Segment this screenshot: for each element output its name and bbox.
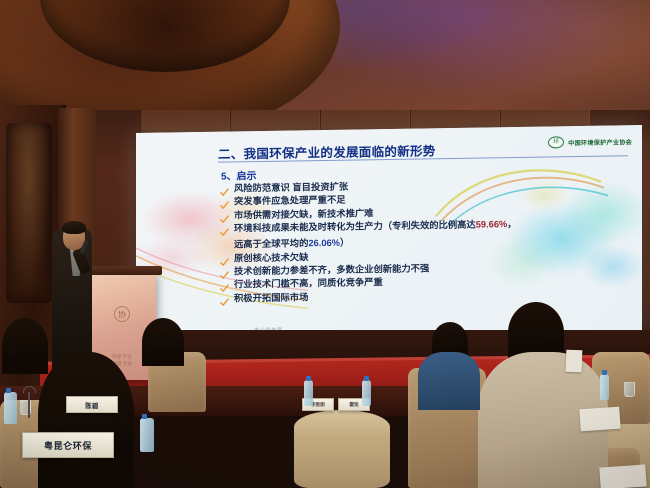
badge-glyph: 环 [553, 139, 559, 145]
water-bottle-3 [600, 374, 609, 400]
slide-bullet-text: 原创核心技术欠缺 [234, 252, 308, 264]
checkmark-icon [220, 198, 229, 208]
slide-bullet-text: 行业技术门槛不高，同质化竞争严重 [234, 277, 383, 290]
microphone-head-icon [23, 386, 36, 393]
water-bottle-4 [140, 418, 154, 452]
checkmark-icon [220, 211, 229, 221]
association-badge-icon: 环 [548, 136, 564, 148]
checkmark-icon [220, 268, 229, 278]
water-bottle-2 [362, 380, 371, 406]
checkmark-icon [220, 281, 229, 291]
association-logo-text: 中国环境保护产业协会 [568, 137, 632, 147]
checkmark-icon [220, 294, 229, 304]
projection-screen: 二、我国环保产业的发展面临的新形势 环 中国环境保护产业协会 5、启示 风险防范… [136, 125, 642, 342]
name-card-text: 陈碧 [85, 400, 98, 410]
slide-bullet-text: 积极开拓国际市场 [234, 292, 308, 304]
podium-caption-line1: 环保 产业 [112, 354, 132, 361]
slide-section-number: 5、启示 [221, 167, 257, 183]
audience-body-2 [38, 352, 134, 488]
slide-bullet-text: 风险防范意识 盲目投资扩张 [234, 182, 348, 194]
audience-body-3 [418, 352, 480, 410]
podium-emblem-icon: 协 [114, 306, 130, 322]
association-logo: 环 中国环境保护产业协会 [548, 135, 632, 148]
checkmark-icon [220, 254, 229, 264]
water-bottle-1 [304, 380, 313, 406]
slide-bullet-text: 市场供需对接欠缺，新技术推广难 [234, 208, 373, 221]
microphone-stand [28, 392, 30, 418]
slide-bullet-list: 风险防范意识 盲目投资扩张突发事件应急处理严重不足市场供需对接欠缺，新技术推广难… [220, 177, 636, 306]
water-bottle-5 [4, 392, 17, 424]
door-carving [6, 123, 52, 303]
audience-head-2 [2, 318, 48, 374]
slide-bullet-text: 突发事件应急处理严重不足 [234, 195, 346, 207]
name-card-front-left: 粤昆仑环保 [22, 432, 114, 458]
paper-document-3 [566, 350, 583, 373]
drinking-glass-1 [624, 382, 635, 397]
podium-top-surface [82, 266, 162, 275]
audience-head-1 [142, 318, 184, 366]
name-card-text: 粤昆仑环保 [44, 439, 92, 452]
name-card-mid-left: 陈碧 [66, 396, 118, 413]
conference-photo-scene: 二、我国环保产业的发展面临的新形势 环 中国环境保护产业协会 5、启示 风险防范… [0, 0, 650, 488]
slide-bullet-text: 技术创新能力参差不齐，多数企业创新能力不强 [234, 263, 429, 277]
checkmark-icon [220, 185, 229, 195]
checkmark-icon [220, 224, 229, 234]
name-card-text: 霍铭 [349, 402, 358, 408]
name-card-text: 李胜刚 [311, 402, 325, 408]
slide-bullet-text: 环境科技成果未能及时转化为生产力（专利失效的比例高达59.66%， [234, 219, 517, 234]
speaker-hair [62, 221, 86, 234]
paper-document-2 [599, 464, 646, 488]
round-table-center [294, 410, 390, 488]
paper-document-1 [579, 407, 620, 432]
presentation-slide: 二、我国环保产业的发展面临的新形势 环 中国环境保护产业协会 5、启示 风险防范… [136, 125, 642, 342]
